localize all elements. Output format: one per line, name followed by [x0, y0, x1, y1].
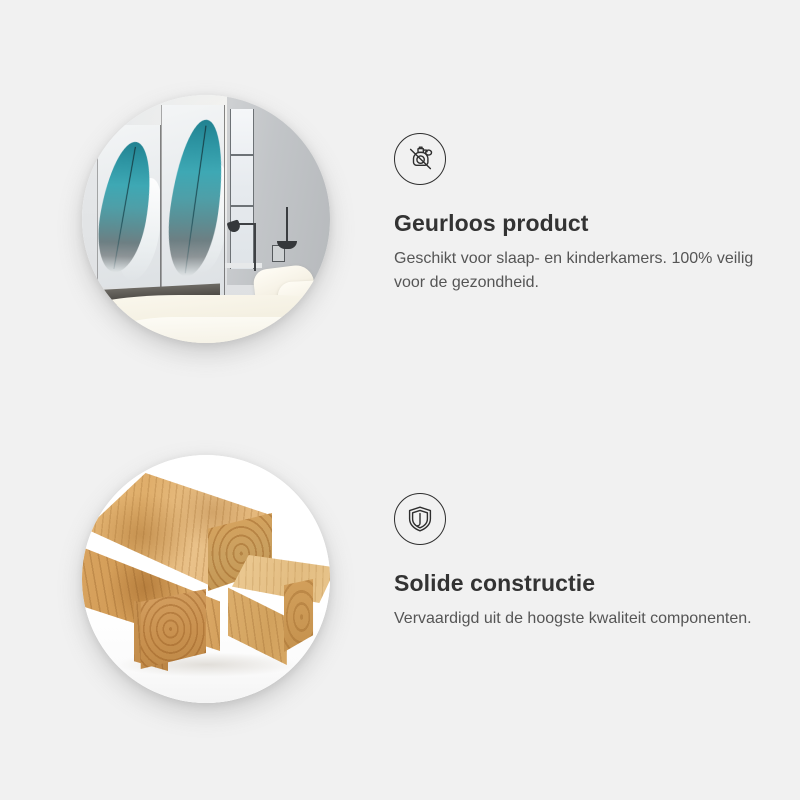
window-icon: [230, 109, 254, 269]
product-features-page: Geurloos product Geschikt voor slaap- en…: [0, 0, 800, 800]
no-fragrance-icon: [394, 133, 446, 185]
media-bedroom-feather-wall-art: [62, 75, 352, 365]
product-photo-circle: [82, 455, 330, 703]
wooden-blocks-photo: [82, 455, 330, 703]
feature-content-scentless: Geurloos product Geschikt voor slaap- en…: [394, 60, 794, 295]
wall-art-panel: [162, 105, 224, 295]
product-photo-circle: [82, 95, 330, 343]
feature-title: Solide constructie: [394, 570, 794, 598]
feature-content-solid-construction: Solide constructie Vervaardigd uit de ho…: [394, 420, 794, 631]
shield-icon: [394, 493, 446, 545]
feature-block-scentless: Geurloos product Geschikt voor slaap- en…: [0, 60, 800, 420]
bed-duvet-fold: [102, 317, 330, 343]
wall-art-panel: [98, 125, 160, 287]
sideboard: [222, 263, 262, 268]
media-wooden-blocks: [62, 435, 352, 725]
block-top-face: [232, 555, 330, 603]
feature-block-solid-construction: Solide constructie Vervaardigd uit de ho…: [0, 420, 800, 780]
desk-lamp-pole: [254, 223, 256, 271]
pendant-lamp: [286, 207, 288, 243]
feature-description: Geschikt voor slaap- en kinderkamers. 10…: [394, 247, 786, 295]
feature-description: Vervaardigd uit de hoogste kwaliteit com…: [394, 607, 786, 631]
feature-title: Geurloos product: [394, 210, 794, 238]
bedroom-feather-wall-art-photo: [82, 95, 330, 343]
